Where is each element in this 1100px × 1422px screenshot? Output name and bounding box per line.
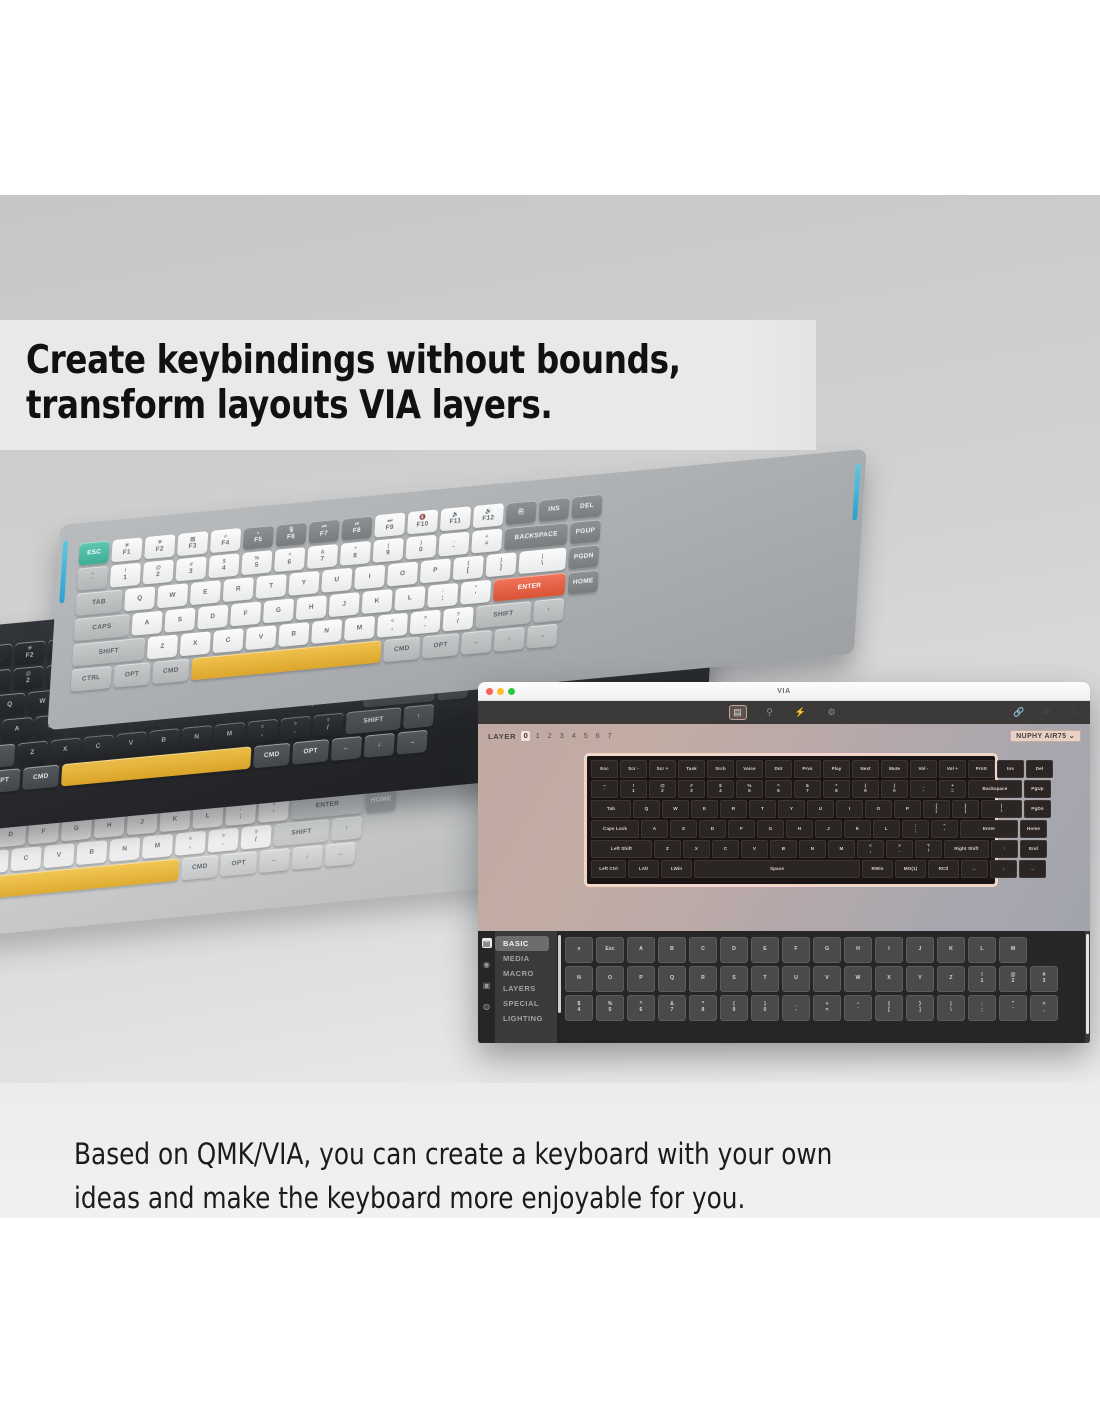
via-key[interactable]: RCtl xyxy=(928,860,959,878)
via-key[interactable]: Next xyxy=(852,760,879,778)
keycap: 🔇F10 xyxy=(407,509,438,534)
keycap: ↓ xyxy=(364,733,395,758)
keycap: O xyxy=(387,562,418,587)
via-key[interactable]: Del xyxy=(1026,760,1053,778)
keycap: HOME xyxy=(568,570,599,595)
via-key[interactable]: PgDn xyxy=(1024,800,1051,818)
keycode-button[interactable]: ~` xyxy=(844,995,872,1021)
keycap: ☀F2 xyxy=(144,534,175,559)
via-key[interactable]: Vol - xyxy=(910,760,937,778)
keycap: |\ xyxy=(518,548,566,575)
via-key[interactable]: P xyxy=(894,800,921,818)
keycap: CMD xyxy=(181,855,218,881)
keycap: C xyxy=(10,846,41,871)
keycode-button[interactable]: W xyxy=(844,966,872,992)
via-key[interactable]: #3 xyxy=(678,780,705,798)
keycode-button[interactable]: (9 xyxy=(720,995,748,1021)
via-key[interactable]: Left Shift xyxy=(591,840,652,858)
keycode-button[interactable]: G xyxy=(813,937,841,963)
headline-text: Create keybindings without bounds, trans… xyxy=(26,338,761,428)
keycode-button[interactable]: $4 xyxy=(565,995,593,1021)
via-key[interactable]: <, xyxy=(857,840,884,858)
via-key[interactable]: O xyxy=(865,800,892,818)
via-key[interactable]: LAlt xyxy=(628,860,659,878)
keycap: >. xyxy=(208,828,239,853)
keycap: ?/ xyxy=(312,713,343,738)
keycap: ↓ xyxy=(494,627,525,652)
picker-menu-item-layers[interactable]: LAYERS xyxy=(495,981,557,996)
via-key[interactable]: K xyxy=(844,820,871,838)
keycap: ☀F1 xyxy=(111,537,142,562)
via-key[interactable]: M xyxy=(828,840,855,858)
keycap: ▤F3 xyxy=(177,531,208,556)
keycode-button[interactable]: V xyxy=(813,966,841,992)
keycode-button[interactable]: F xyxy=(782,937,810,963)
via-key[interactable]: Caps Lock xyxy=(591,820,639,838)
keycap: I xyxy=(354,565,385,590)
keycap: ↑ xyxy=(331,816,362,841)
keycap: ☀F2 xyxy=(14,640,45,665)
keycap: %5 xyxy=(241,550,272,575)
keycap: B xyxy=(76,840,107,865)
via-key[interactable]: L xyxy=(873,820,900,838)
via-key[interactable]: Dnt xyxy=(765,760,792,778)
via-key-row: Caps LockASDFGHJKL:;"'EnterHome xyxy=(591,820,991,838)
keycap: SHIFT xyxy=(345,707,401,734)
keycode-button[interactable]: H xyxy=(844,937,872,963)
product-feature-page: ESC☀F1☀F2▤F3⌕F4◐F5🎙F6⏮F7⏯F8⏭F9🔇F10🔉F11🔊F… xyxy=(0,0,1100,1422)
keycode-button[interactable]: ∨ xyxy=(565,937,593,963)
hero-content-band: ESC☀F1☀F2▤F3⌕F4◐F5🎙F6⏮F7⏯F8⏭F9🔇F10🔉F11🔊F… xyxy=(0,195,1100,1218)
keycode-button[interactable]: N xyxy=(565,966,593,992)
via-key[interactable]: → xyxy=(1019,860,1046,878)
via-key-row: ~`!1@2#3$4%5^6&7*8(9)0_-+=BackspacePgUp xyxy=(591,780,991,798)
keycap: ~` xyxy=(77,566,108,591)
layer-button-6[interactable]: 6 xyxy=(593,731,602,741)
via-key[interactable]: S xyxy=(670,820,697,838)
lightning-icon[interactable]: ⚡ xyxy=(793,706,809,719)
picker-iconbar: ▤◉▣◍ xyxy=(478,931,495,1043)
via-key[interactable]: Scr - xyxy=(620,760,647,778)
keycap: ↓ xyxy=(292,845,323,870)
layer-button-5[interactable]: 5 xyxy=(581,731,590,741)
keycap: G xyxy=(263,598,294,623)
keycap: OPT xyxy=(0,768,21,794)
picker-menu-item-media[interactable]: MEDIA xyxy=(495,951,557,966)
via-key[interactable]: ^6 xyxy=(765,780,792,798)
keycap: M xyxy=(344,616,375,641)
layer-button-2[interactable]: 2 xyxy=(545,731,554,741)
keycode-button[interactable]: )0 xyxy=(751,995,779,1021)
keycap: ⌕F4 xyxy=(210,528,241,553)
keycap: !1 xyxy=(0,669,11,694)
layer-button-3[interactable]: 3 xyxy=(557,731,566,741)
keycode-button[interactable]: I xyxy=(875,937,903,963)
keycap: ^6 xyxy=(274,547,305,572)
keycap: Q xyxy=(124,586,155,611)
chevron-down-icon: ⌄ xyxy=(1069,733,1075,740)
keycap: OPT xyxy=(113,662,150,688)
via-key[interactable]: MO(1) xyxy=(895,860,926,878)
keycode-picker-panel: ▤◉▣◍ BASICMEDIAMACROLAYERSSPECIALLIGHTIN… xyxy=(478,931,1090,1043)
keycode-button[interactable]: *8 xyxy=(689,995,717,1021)
keycap: ⏯F8 xyxy=(341,516,372,541)
via-key[interactable]: F xyxy=(728,820,755,838)
via-key[interactable]: ↓ xyxy=(990,860,1017,878)
gear-icon[interactable]: ⚙ xyxy=(824,706,840,719)
via-key[interactable]: R xyxy=(720,800,747,818)
keycode-button[interactable]: |\ xyxy=(937,995,965,1021)
keycode-button[interactable]: E xyxy=(751,937,779,963)
keycap: $4 xyxy=(208,553,239,578)
caption-banner: Based on QMK/VIA, you can create a keybo… xyxy=(0,1083,1100,1218)
keycap: BACKSPACE xyxy=(504,522,568,550)
via-key[interactable]: C xyxy=(712,840,739,858)
keycap: "' xyxy=(460,580,491,605)
via-key[interactable]: Mute xyxy=(881,760,908,778)
keycap: CMD xyxy=(152,658,189,684)
via-keyboard-map[interactable]: EscScr -Scr +TaskSrchVoiceDntPrvsPlayNex… xyxy=(584,753,998,887)
via-key[interactable]: PgUp xyxy=(1024,780,1051,798)
keycode-button[interactable]: Q xyxy=(658,966,686,992)
record-icon[interactable]: ◉ xyxy=(482,959,492,969)
keycode-button[interactable]: K xyxy=(937,937,965,963)
layer-button-4[interactable]: 4 xyxy=(569,731,578,741)
via-key[interactable]: T xyxy=(749,800,776,818)
via-key[interactable]: Left Ctrl xyxy=(591,860,626,878)
keycode-button[interactable]: #3 xyxy=(1030,966,1058,992)
keycap: T xyxy=(256,574,287,599)
keycode-button[interactable]: }] xyxy=(906,995,934,1021)
keycap: ↑ xyxy=(533,598,564,623)
via-key[interactable]: RWin xyxy=(862,860,893,878)
keycode-button[interactable]: C xyxy=(689,937,717,963)
keycap: Q xyxy=(0,692,25,717)
via-key-row: Left CtrlLAltLWinSpaceRWinMO(1)RCtl←↓→ xyxy=(591,860,991,878)
accent-strip-left xyxy=(59,540,68,603)
keycode-button[interactable]: _- xyxy=(782,995,810,1021)
keycode-button[interactable]: R xyxy=(689,966,717,992)
via-key[interactable]: *8 xyxy=(823,780,850,798)
keycode-button[interactable]: A xyxy=(627,937,655,963)
via-key[interactable]: :; xyxy=(902,820,929,838)
keycap: )0 xyxy=(405,535,436,560)
keycap: V xyxy=(43,843,74,868)
keycap: K xyxy=(361,589,392,614)
plug-icon[interactable]: ⚲ xyxy=(762,706,778,719)
keycode-button[interactable]: Z xyxy=(937,966,965,992)
keycap: PGDN xyxy=(568,544,599,569)
keycode-button[interactable]: B xyxy=(658,937,686,963)
keycap: 🔊F12 xyxy=(473,503,504,528)
via-main-panel: LAYER 01234567 NUPHY AIR75 ⌄ EscScr -Scr… xyxy=(478,724,1090,1043)
keycap: N xyxy=(311,619,342,644)
keycap: CMD xyxy=(253,743,290,769)
info-icon[interactable]: ⓘ xyxy=(1065,706,1081,719)
keycap: OPT xyxy=(422,633,459,659)
picker-category-menu: BASICMEDIAMACROLAYERSSPECIALLIGHTING xyxy=(495,931,557,1043)
picker-menu-item-basic[interactable]: BASIC xyxy=(495,936,549,951)
keycap: ?/ xyxy=(442,606,473,631)
via-key[interactable]: N xyxy=(799,840,826,858)
keycode-row: ∨EscABCDEFGHIJKLM xyxy=(565,937,1081,963)
via-key[interactable]: ↑ xyxy=(991,840,1018,858)
keycode-grid-scrollbar[interactable] xyxy=(1085,931,1090,1043)
mail-icon[interactable]: ✉ xyxy=(1038,706,1054,719)
via-key[interactable]: Voice xyxy=(736,760,763,778)
keycode-button[interactable]: %5 xyxy=(596,995,624,1021)
layer-button-1[interactable]: 1 xyxy=(533,731,542,741)
keycap-rows: ESC☀F1☀F2▤F3⌕F4◐F5🎙F6⏮F7⏯F8⏭F9🔇F10🔉F11🔊F… xyxy=(62,463,855,703)
link-icon[interactable]: 🔗 xyxy=(1011,706,1027,719)
picker-menu-item-special[interactable]: SPECIAL xyxy=(495,996,557,1011)
caption-text: Based on QMK/VIA, you can create a keybo… xyxy=(74,1132,996,1218)
keyboard-icon[interactable]: ▤ xyxy=(729,705,747,720)
bulb-icon[interactable]: ◍ xyxy=(482,1001,492,1011)
keycap: INS xyxy=(538,497,569,522)
save-icon[interactable]: ▣ xyxy=(482,980,492,990)
layer-buttons: 01234567 xyxy=(521,731,614,741)
via-key[interactable]: Esc xyxy=(591,760,618,778)
keycap: F xyxy=(230,601,261,626)
keycap: SHIFT xyxy=(475,601,531,628)
keycap: <, xyxy=(247,719,278,744)
keycode-row: NOPQRSTUVWXYZ!1@2#3 xyxy=(565,966,1081,992)
keycap: ENTER xyxy=(493,573,566,602)
keycap: {[ xyxy=(453,555,484,580)
via-key[interactable]: LWin xyxy=(661,860,692,878)
keycode-button[interactable]: S xyxy=(720,966,748,992)
headline-banner: Create keybindings without bounds, trans… xyxy=(0,320,816,450)
keycode-button[interactable]: &7 xyxy=(658,995,686,1021)
keycap: CMD xyxy=(22,765,59,791)
keycap: R xyxy=(223,577,254,602)
keycap: H xyxy=(296,595,327,620)
keycap: <, xyxy=(175,831,206,856)
keycap: 🔉F11 xyxy=(440,506,471,531)
via-key[interactable]: V xyxy=(741,840,768,858)
keycode-button[interactable]: :; xyxy=(968,995,996,1021)
keycode-grid[interactable]: ∨EscABCDEFGHIJKLMNOPQRSTUVWXYZ!1@2#3$4%5… xyxy=(561,931,1085,1043)
keycap: >. xyxy=(280,716,311,741)
layer-button-0[interactable]: 0 xyxy=(521,731,530,741)
keycode-button[interactable]: += xyxy=(813,995,841,1021)
via-key[interactable]: J xyxy=(815,820,842,838)
keycap: OPT xyxy=(292,739,329,765)
keycap: E xyxy=(190,580,221,605)
window-titlebar: VIA xyxy=(478,682,1090,701)
keycode-button[interactable]: T xyxy=(751,966,779,992)
keycode-button[interactable]: <, xyxy=(1030,995,1058,1021)
keycap: CAPS xyxy=(74,614,130,641)
via-key[interactable]: |\ xyxy=(981,800,1022,818)
keycode-button[interactable]: J xyxy=(906,937,934,963)
via-key[interactable]: Space xyxy=(694,860,860,878)
keycap: ⏭F9 xyxy=(374,513,405,538)
keycap: → xyxy=(527,624,558,649)
keycap: @2 xyxy=(13,666,44,691)
via-key[interactable]: >. xyxy=(886,840,913,858)
keycode-button[interactable]: @2 xyxy=(999,966,1027,992)
via-key[interactable]: @2 xyxy=(649,780,676,798)
keycap: ESC xyxy=(78,540,109,565)
keycode-button[interactable]: D xyxy=(720,937,748,963)
keycode-row: $4%5^6&7*8(9)0_-+=~`{[}]|\:;"'<, xyxy=(565,995,1081,1021)
keycode-button[interactable]: "' xyxy=(999,995,1027,1021)
keycode-button[interactable]: L xyxy=(968,937,996,963)
keycap: → xyxy=(396,730,427,755)
via-key[interactable]: Tab xyxy=(591,800,631,818)
picker-menu-item-lighting[interactable]: LIGHTING xyxy=(495,1011,557,1026)
keycode-button[interactable]: M xyxy=(999,937,1027,963)
via-key[interactable]: Play xyxy=(823,760,850,778)
via-key[interactable]: E xyxy=(691,800,718,818)
keycap: L xyxy=(394,586,425,611)
keycode-button[interactable]: Y xyxy=(906,966,934,992)
via-key[interactable]: "' xyxy=(931,820,958,838)
keycap: ⏮F7 xyxy=(308,519,339,544)
via-key[interactable]: Backspace xyxy=(968,780,1022,798)
picker-menu-scrollbar[interactable] xyxy=(557,931,561,1043)
via-key[interactable]: $4 xyxy=(707,780,734,798)
keycap: CMD xyxy=(383,637,420,663)
keycode-button[interactable]: P xyxy=(627,966,655,992)
keycap: SHIFT xyxy=(72,638,145,667)
via-key[interactable]: {[ xyxy=(923,800,950,818)
keycap: D xyxy=(197,605,228,630)
keycap: B xyxy=(148,728,179,753)
via-key[interactable]: %5 xyxy=(736,780,763,798)
keycap: V xyxy=(115,731,146,756)
via-key[interactable]: _- xyxy=(910,780,937,798)
via-key[interactable]: += xyxy=(939,780,966,798)
via-key[interactable]: Z xyxy=(654,840,681,858)
via-key[interactable]: Q xyxy=(633,800,660,818)
via-key[interactable]: ?/ xyxy=(915,840,942,858)
via-app-window[interactable]: VIA ▤ ⚲ ⚡ ⚙ 🔗 ✉ ⓘ LAYER 01234567 xyxy=(478,682,1090,1043)
keycap: :; xyxy=(427,583,458,608)
toolbar-right-group: 🔗 ✉ ⓘ xyxy=(1011,706,1081,719)
keycap: ← xyxy=(259,848,290,873)
via-key[interactable]: ~` xyxy=(591,780,618,798)
via-key[interactable]: A xyxy=(641,820,668,838)
keycap: *8 xyxy=(340,541,371,566)
via-key-row: EscScr -Scr +TaskSrchVoiceDntPrvsPlayNex… xyxy=(591,760,991,778)
keycode-button[interactable]: O xyxy=(596,966,624,992)
keycap: X xyxy=(180,631,211,656)
via-key[interactable]: !1 xyxy=(620,780,647,798)
keycap: Z xyxy=(17,741,48,766)
via-key[interactable]: &7 xyxy=(794,780,821,798)
keycap: ◐F5 xyxy=(243,525,274,550)
keycap: C xyxy=(82,734,113,759)
keycap: Y xyxy=(288,571,319,596)
via-key[interactable]: Home xyxy=(1020,820,1047,838)
via-key[interactable]: Vol + xyxy=(939,760,966,778)
keycap: ☀F1 xyxy=(0,643,13,668)
picker-menu-item-macro[interactable]: MACRO xyxy=(495,966,557,981)
via-key[interactable]: }] xyxy=(952,800,979,818)
via-key[interactable]: Srch xyxy=(707,760,734,778)
keycap: OPT xyxy=(220,851,257,877)
keycap: >. xyxy=(410,610,441,635)
keycap: }] xyxy=(485,552,516,577)
via-key[interactable]: H xyxy=(786,820,813,838)
via-key[interactable]: Prvs xyxy=(794,760,821,778)
keycap: ?/ xyxy=(240,825,271,850)
layer-button-7[interactable]: 7 xyxy=(605,731,614,741)
via-key[interactable]: X xyxy=(683,840,710,858)
keycap: P xyxy=(420,558,451,583)
via-key[interactable]: Ins xyxy=(997,760,1024,778)
keycap: U xyxy=(321,568,352,593)
via-key[interactable]: B xyxy=(770,840,797,858)
keycap: J xyxy=(329,592,360,617)
keycode-button[interactable]: ^6 xyxy=(627,995,655,1021)
keycode-button[interactable]: {[ xyxy=(875,995,903,1021)
keyboard-select-dropdown[interactable]: NUPHY AIR75 ⌄ xyxy=(1010,730,1081,742)
keycode-button[interactable]: U xyxy=(782,966,810,992)
window-title: VIA xyxy=(478,688,1090,695)
keycap: PGUP xyxy=(570,519,601,544)
keycap: A xyxy=(1,717,32,742)
via-toolbar: ▤ ⚲ ⚡ ⚙ 🔗 ✉ ⓘ xyxy=(478,701,1090,724)
via-key[interactable]: D xyxy=(699,820,726,838)
via-key[interactable]: End xyxy=(1020,840,1047,858)
keycap: (9 xyxy=(373,538,404,563)
keycap: <, xyxy=(377,613,408,638)
keycap: #3 xyxy=(175,556,206,581)
via-key[interactable]: Task xyxy=(678,760,705,778)
keycap: N xyxy=(109,837,140,862)
via-key[interactable]: Prntr xyxy=(968,760,995,778)
keycode-button[interactable]: Esc xyxy=(596,937,624,963)
keycap: TAB xyxy=(75,589,122,616)
via-key[interactable]: (9 xyxy=(852,780,879,798)
via-key[interactable]: Right Shift xyxy=(944,840,989,858)
via-key[interactable]: U xyxy=(807,800,834,818)
via-key[interactable]: G xyxy=(757,820,784,838)
keyboard-select-label: NUPHY AIR75 xyxy=(1016,733,1066,740)
keycap: !1 xyxy=(110,563,141,588)
via-key[interactable]: Scr + xyxy=(649,760,676,778)
keycap: SHIFT xyxy=(273,819,329,846)
layer-selector: LAYER 01234567 xyxy=(478,724,1090,741)
keycap: A xyxy=(131,611,162,636)
keycap: N xyxy=(181,725,212,750)
via-key[interactable]: I xyxy=(836,800,863,818)
keycap: X xyxy=(0,849,9,874)
via-key[interactable]: W xyxy=(662,800,689,818)
keycap: 🎙F6 xyxy=(276,522,307,547)
keycap: Z xyxy=(147,634,178,659)
keycap: W xyxy=(157,583,188,608)
keycode-button[interactable]: X xyxy=(875,966,903,992)
via-key[interactable]: Y xyxy=(778,800,805,818)
via-key[interactable]: ← xyxy=(961,860,988,878)
keyboard-icon[interactable]: ▤ xyxy=(482,938,492,948)
keycode-button[interactable]: !1 xyxy=(968,966,996,992)
via-key[interactable]: )0 xyxy=(881,780,908,798)
via-key[interactable]: Enter xyxy=(960,820,1018,838)
via-key-row: TabQWERTYUIOP{[}]|\PgDn xyxy=(591,800,991,818)
keycap: &7 xyxy=(307,544,338,569)
via-key-row: Left ShiftZXCVBNM<,>.?/Right Shift↑End xyxy=(591,840,991,858)
keycap: _- xyxy=(438,532,469,557)
keycap: CTRL xyxy=(71,666,112,692)
layer-label: LAYER xyxy=(488,732,516,741)
keycap: B xyxy=(278,622,309,647)
